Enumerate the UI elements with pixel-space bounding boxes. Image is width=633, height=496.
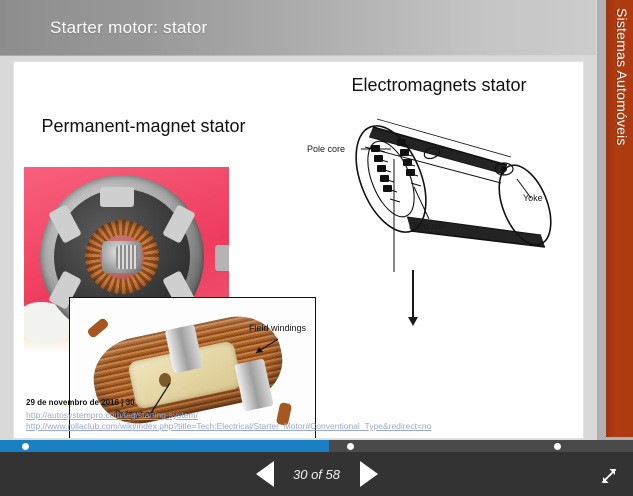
permanent-magnet-stator-title: Permanent-magnet stator	[26, 115, 261, 138]
permanent-magnet-segment	[162, 204, 196, 243]
side-rail-label: Sistemas Automóveis	[608, 8, 630, 428]
fullscreen-expand-icon	[599, 466, 619, 486]
progress-bar-fill	[0, 440, 329, 452]
yoke-cutaway-illustration	[299, 97, 579, 312]
armature-shaft-pinion	[102, 241, 142, 273]
fullscreen-button[interactable]	[599, 466, 619, 486]
slide-footer: 29 de novembro de 2016 | 30 http://autos…	[26, 398, 431, 432]
page-title: Starter motor: stator	[50, 18, 207, 38]
progress-bar[interactable]	[0, 440, 633, 452]
player-controls: 30 of 58	[0, 452, 633, 496]
next-slide-button[interactable]	[360, 461, 378, 487]
source-link-1[interactable]: http://autosystempro.com/tag/starting-sy…	[26, 410, 431, 421]
slide-navigation: 30 of 58	[0, 460, 633, 488]
permanent-magnet-segment	[48, 204, 82, 243]
presentation-player: Starter motor: stator Sistemas Automóvei…	[0, 0, 633, 496]
slide-date-and-number: 29 de novembro de 2016 | 30	[26, 398, 431, 407]
down-arrow-connector	[412, 270, 414, 318]
slide-viewer: Starter motor: stator Sistemas Automóvei…	[0, 0, 633, 440]
label-field-coil: Field coil	[409, 221, 445, 231]
progress-marker[interactable]	[22, 443, 29, 450]
side-rail: Sistemas Automóveis	[597, 0, 633, 440]
progress-marker[interactable]	[347, 443, 354, 450]
label-pole-core: Pole core	[307, 144, 345, 154]
permanent-magnet-segment	[100, 187, 134, 207]
stator-side-tab	[215, 245, 229, 271]
label-yoke: Yoke	[523, 193, 543, 203]
page-indicator: 30 of 58	[288, 467, 346, 482]
slide-canvas[interactable]: Permanent-magnet stator Electromagnets s…	[14, 62, 583, 438]
progress-marker[interactable]	[554, 443, 561, 450]
electromagnet-stator-diagram: Pole core Field coil Yoke	[299, 97, 579, 312]
electromagnets-stator-title: Electromagnets stator	[304, 74, 574, 97]
source-link-2[interactable]: http://www.rollaclub.com/wiki/index.php?…	[26, 421, 431, 432]
label-field-windings: Field windings	[249, 323, 306, 333]
slide-header-band: Starter motor: stator	[0, 0, 596, 56]
previous-slide-button[interactable]	[256, 461, 274, 487]
